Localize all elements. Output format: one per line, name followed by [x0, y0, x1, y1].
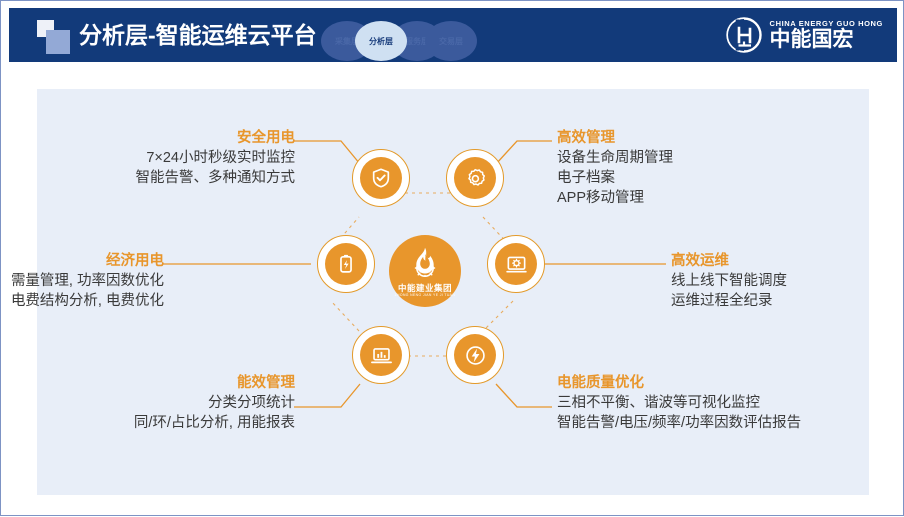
feature-line: 7×24小时秒级实时监控: [14, 148, 295, 168]
node-energy-efficiency[interactable]: [352, 326, 410, 384]
feature-block-safe-power: 安全用电 7×24小时秒级实时监控 智能告警、多种通知方式: [14, 129, 295, 188]
feature-line: 同/环/占比分析, 用能报表: [14, 413, 295, 433]
feature-block-energy-efficiency: 能效管理 分类分项统计 同/环/占比分析, 用能报表: [14, 374, 295, 433]
node-power-quality[interactable]: [446, 326, 504, 384]
logo-text: CHINA ENERGY GUO HONG 中能国宏: [770, 19, 883, 51]
center-brand-logo: 中能建业集团 ZHONG NENG JIAN YE JI TUAN: [389, 235, 461, 307]
feature-title: 高效管理: [557, 129, 877, 148]
laptop-chart-icon: [360, 334, 402, 376]
feature-line: 分类分项统计: [14, 393, 295, 413]
layer-badge-group: 采集层 服务层 交易层 分析层: [321, 21, 481, 61]
battery-bolt-icon: [325, 243, 367, 285]
bolt-circle-icon: [454, 334, 496, 376]
feature-title: 高效运维: [671, 252, 904, 271]
feature-block-economic-power: 经济用电 需量管理, 功率因数优化 电费结构分析, 电费优化: [0, 252, 164, 311]
flame-gear-icon: [408, 247, 442, 282]
badge-label: 分析层: [369, 36, 393, 47]
node-safe-power[interactable]: [352, 149, 410, 207]
page-title: 分析层-智能运维云平台: [79, 20, 317, 50]
feature-title: 能效管理: [14, 374, 295, 393]
logo-text-cn: 中能国宏: [770, 28, 883, 51]
node-efficient-management[interactable]: [446, 149, 504, 207]
slide-root: 分析层-智能运维云平台 采集层 服务层 交易层 分析层: [0, 0, 904, 516]
monitor-gear-icon: [495, 243, 537, 285]
center-brand-pinyin: ZHONG NENG JIAN YE JI TUAN: [395, 293, 456, 298]
feature-block-efficient-ops: 高效运维 线上线下智能调度 运维过程全纪录: [671, 252, 904, 311]
node-economic-power[interactable]: [317, 235, 375, 293]
badge-trade-layer[interactable]: 交易层: [425, 21, 477, 61]
feature-line: 电子档案: [557, 168, 877, 188]
badge-analysis-layer-active[interactable]: 分析层: [355, 21, 407, 61]
feature-block-power-quality: 电能质量优化 三相不平衡、谐波等可视化监控 智能告警/电压/频率/功率因数评估报…: [557, 374, 897, 433]
node-efficient-ops[interactable]: [487, 235, 545, 293]
gear-icon: [454, 157, 496, 199]
feature-line: 线上线下智能调度: [671, 271, 904, 291]
feature-line: APP移动管理: [557, 188, 877, 208]
feature-title: 经济用电: [0, 252, 164, 271]
logo-text-en: CHINA ENERGY GUO HONG: [770, 19, 883, 28]
feature-line: 电费结构分析, 电费优化: [0, 291, 164, 311]
logo-mark-icon: [725, 16, 763, 54]
feature-block-efficient-management: 高效管理 设备生命周期管理 电子档案 APP移动管理: [557, 129, 877, 208]
feature-line: 三相不平衡、谐波等可视化监控: [557, 393, 897, 413]
header-square-blue: [46, 30, 70, 54]
feature-line: 智能告警/电压/频率/功率因数评估报告: [557, 413, 897, 433]
badge-label: 交易层: [439, 36, 463, 47]
feature-line: 智能告警、多种通知方式: [14, 168, 295, 188]
feature-title: 电能质量优化: [557, 374, 897, 393]
feature-line: 运维过程全纪录: [671, 291, 904, 311]
feature-line: 设备生命周期管理: [557, 148, 877, 168]
shield-check-icon: [360, 157, 402, 199]
center-brand-cn: 中能建业集团: [398, 283, 452, 293]
feature-line: 需量管理, 功率因数优化: [0, 271, 164, 291]
page-header: 分析层-智能运维云平台 采集层 服务层 交易层 分析层: [9, 8, 897, 62]
feature-title: 安全用电: [14, 129, 295, 148]
company-logo: CHINA ENERGY GUO HONG 中能国宏: [725, 16, 883, 54]
